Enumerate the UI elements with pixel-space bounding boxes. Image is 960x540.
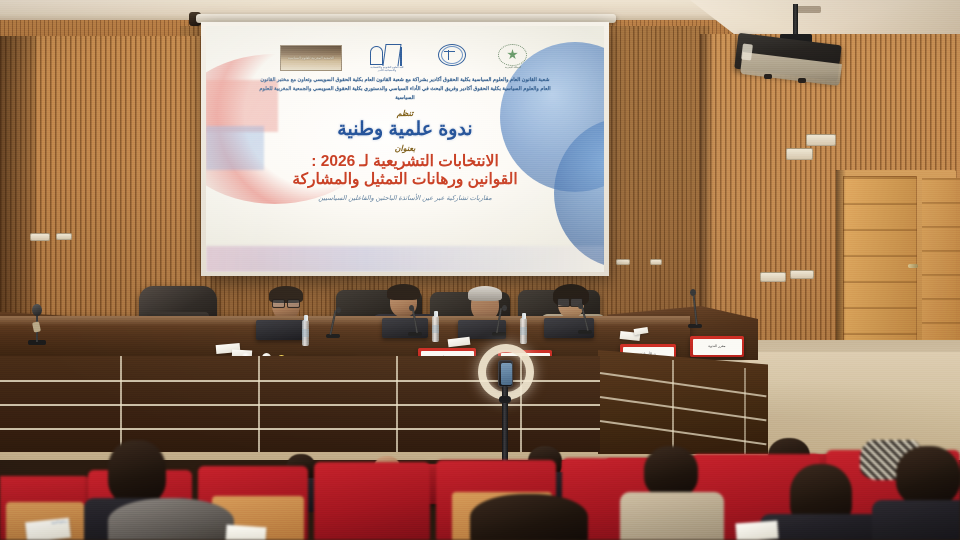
logo-caption: الجمعية المغربية للعلوم السياسية xyxy=(288,56,334,60)
audience-head xyxy=(108,498,234,540)
slide-title-line2: القوانين ورهانات التمثيل والمشاركة xyxy=(220,171,590,189)
logo-caption: المملكة المغربية xyxy=(490,66,536,69)
handout_label[interactable] xyxy=(225,525,266,540)
namecard-text: مقرر الندوة xyxy=(708,344,725,348)
slide-logo-row: الجمعية المغربية للعلوم السياسية كلية ال… xyxy=(206,40,604,76)
wall-plate-label xyxy=(650,259,662,265)
tripod-adjust-knob[interactable] xyxy=(499,396,511,403)
microphone-base xyxy=(326,334,340,338)
microphone-base xyxy=(408,332,422,336)
microphone-capsule-icon xyxy=(409,305,414,311)
scales-icon xyxy=(448,50,456,60)
microphone-capsule-icon xyxy=(502,305,507,311)
panelist-hair xyxy=(387,284,420,300)
microphone-base xyxy=(578,330,592,334)
wall-plate-label xyxy=(56,233,72,240)
handout_label[interactable]: برنامج الندوة xyxy=(25,518,71,540)
panelist-hair xyxy=(468,286,502,301)
laptop_label[interactable] xyxy=(256,320,306,340)
namecard-5: مقرر الندوة xyxy=(690,336,744,357)
slide-intro-text: شعبة القانون العام والعلوم السياسية بكلي… xyxy=(255,76,555,103)
screen_label: الجمعية المغربية للعلوم السياسية كلية ال… xyxy=(206,26,604,272)
slide-text-block: شعبة القانون العام والعلوم السياسية بكلي… xyxy=(206,76,604,204)
projector-mount-pole xyxy=(793,4,798,38)
projector-lens-icon xyxy=(741,43,753,60)
phone_label[interactable] xyxy=(498,360,513,387)
arch-shape-icon xyxy=(370,46,383,65)
slide-footer-text: مقاربات تشاركية عبر عين الأساتذة الباحثي… xyxy=(265,194,545,204)
faculty-of-law-agadir-logo: كلية العلوم القانونية والاقتصادية والاجت… xyxy=(368,43,410,73)
slide-event-type: ندوة علمية وطنية xyxy=(337,120,472,141)
moroccan-political-science-association-logo: الجمعية المغربية للعلوم السياسية xyxy=(280,45,342,71)
projector-foot xyxy=(798,78,806,83)
logo-caption: كلية العلوم القانونية والاقتصادية والاجت… xyxy=(368,66,406,72)
conference-hall-photo: الجمعية المغربية للعلوم السياسية كلية ال… xyxy=(0,0,960,540)
audience-head xyxy=(470,494,588,540)
bottle_label[interactable] xyxy=(302,320,309,346)
wall-plate-label xyxy=(760,272,786,282)
slide-title-line1: الانتخابات التشريعية لـ 2026 : xyxy=(311,153,499,170)
morocco-national-seal: المملكة المغربية xyxy=(496,43,530,73)
wall-plate-label xyxy=(806,134,836,146)
namecard-face: مقرر الندوة xyxy=(693,339,742,355)
arch-shape-icon xyxy=(382,44,401,66)
scales-of-justice-seal xyxy=(436,43,470,73)
foreground-audience: برنامج الندوة xyxy=(0,440,960,540)
door-handle[interactable] xyxy=(908,264,918,268)
slide-title-block: الانتخابات التشريعية لـ 2026 : القوانين … xyxy=(220,153,590,189)
slide-decor-bottom-band xyxy=(206,246,604,272)
handout_label[interactable] xyxy=(735,521,778,540)
microphone-base xyxy=(492,332,506,336)
audience-head xyxy=(896,446,960,506)
glasses-icon xyxy=(272,299,300,306)
audience-shoulders xyxy=(872,500,960,540)
slide-titled-label: بعنوان xyxy=(383,144,428,153)
microphone-capsule-icon xyxy=(336,307,341,313)
microphone-capsule-icon xyxy=(32,304,42,316)
slide-organizes-label: تنظم xyxy=(385,109,426,118)
bottle_label[interactable] xyxy=(520,318,527,344)
audience-head xyxy=(108,440,166,504)
wall-plate-label xyxy=(786,148,813,160)
microphone-capsule-icon xyxy=(578,303,583,309)
arch-shape-icon xyxy=(400,47,402,66)
podium-trim-line xyxy=(0,404,600,406)
wall-plate-label xyxy=(790,270,814,279)
audience-shoulders xyxy=(620,492,724,540)
list-item[interactable] xyxy=(314,462,430,540)
phone-screen[interactable] xyxy=(501,363,512,385)
bottle_label[interactable] xyxy=(432,316,439,342)
wall-plate-label xyxy=(616,259,630,265)
projector-foot xyxy=(764,74,772,79)
microphone-capsule-icon xyxy=(690,289,696,296)
wall-plate-label xyxy=(30,233,50,241)
audience-head xyxy=(644,446,698,498)
